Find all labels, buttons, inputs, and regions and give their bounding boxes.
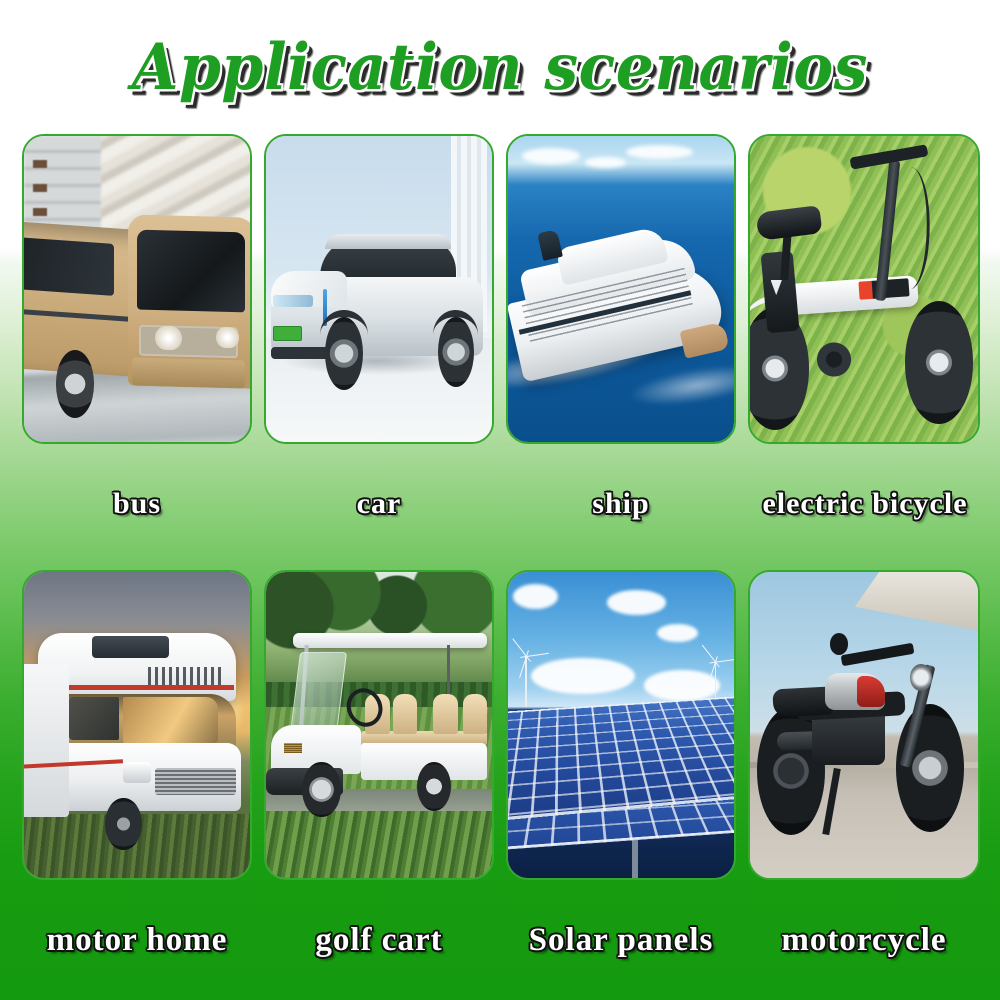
ebike-brake-cable [887, 165, 935, 290]
scenario-card-golf-cart[interactable] [264, 570, 494, 880]
solar-panels-photo [508, 572, 734, 878]
ship-funnel [537, 229, 563, 260]
ebike-front-wheel [905, 301, 973, 423]
caption-motor-home: motor home [14, 922, 260, 959]
caption-motorcycle: motorcycle [748, 922, 980, 959]
grass-foreground [266, 811, 492, 878]
cloud [522, 148, 581, 163]
moto-mirror [830, 633, 848, 654]
cart-roof [293, 633, 487, 648]
building-awning [855, 572, 978, 633]
card-frame [22, 570, 252, 880]
application-scenarios-page: Application scenarios [0, 0, 1000, 1000]
scenario-grid: bus car ship electric bicycle [0, 0, 1000, 1000]
rv-headlamp [123, 762, 150, 783]
car-roof [325, 234, 452, 249]
scenario-card-solar-panels[interactable] [506, 570, 736, 880]
rv-maxus-badge [148, 667, 225, 685]
bus-bumper [132, 358, 245, 388]
ebike-battery-pack [760, 251, 799, 333]
scenario-card-bus[interactable] [22, 134, 252, 444]
car-photo [266, 136, 492, 442]
turbine-mast [525, 656, 527, 706]
car-wheel-front [325, 317, 363, 390]
rv-side-panel [24, 664, 69, 817]
ship-photo [508, 136, 734, 442]
cloud [657, 624, 698, 642]
wind-turbine-left [513, 645, 540, 706]
bus-wheel [56, 350, 94, 417]
bus-windshield [137, 229, 245, 311]
card-frame [264, 134, 494, 444]
cloud [607, 590, 666, 614]
turbine-blade [518, 650, 528, 678]
rv-wheel [105, 798, 141, 850]
cart-wheel-rear [417, 762, 451, 811]
scenario-card-car[interactable] [264, 134, 494, 444]
rv-windshield [123, 697, 218, 743]
motor-home-photo [24, 572, 250, 878]
ebike-saddle [755, 206, 822, 241]
car-green-license-plate [273, 326, 302, 342]
scenario-card-motorcycle[interactable] [748, 570, 980, 880]
bus-side-windows [24, 236, 114, 296]
card-frame [748, 570, 980, 880]
moto-handlebar [841, 642, 915, 665]
car-headlamp [273, 295, 314, 307]
scenario-card-electric-bicycle[interactable] [748, 134, 980, 444]
bus-headlamp-left [155, 325, 182, 350]
golf-cart-photo [266, 572, 492, 878]
cart-seat [393, 694, 418, 734]
caption-solar-panels: Solar panels [506, 922, 736, 959]
cloud-bank [531, 658, 635, 695]
cloud [585, 157, 626, 168]
rv-roof-hatch [92, 636, 169, 657]
caption-electric-bicycle: electric bicycle [740, 487, 990, 521]
bus-headlamp-right [216, 327, 239, 349]
card-frame [264, 570, 494, 880]
caption-golf-cart: golf cart [264, 922, 494, 959]
ebike-crank-chainring [809, 317, 859, 403]
moto-seat [772, 687, 833, 718]
electric-bicycle-photo [750, 136, 978, 442]
cloud [513, 584, 558, 608]
caption-bus: bus [22, 487, 252, 521]
cloud [626, 145, 694, 159]
scenario-card-ship[interactable] [506, 134, 736, 444]
caption-ship: ship [506, 487, 736, 521]
scenario-card-motor-home[interactable] [22, 570, 252, 880]
car-wheel-rear [438, 317, 474, 387]
caption-car: car [264, 487, 494, 521]
bus-photo [24, 136, 250, 442]
motorcycle-photo [750, 572, 978, 878]
cart-seat [463, 694, 488, 734]
card-frame [22, 134, 252, 444]
rv-side-window [69, 697, 119, 740]
card-frame [506, 570, 736, 880]
cart-wheel-front [302, 762, 340, 817]
moto-front-wheel [896, 704, 964, 833]
rv-grille [155, 768, 236, 796]
cart-front-grille [284, 743, 302, 752]
cart-seat [433, 694, 458, 734]
card-frame [748, 134, 980, 444]
card-frame [506, 134, 736, 444]
